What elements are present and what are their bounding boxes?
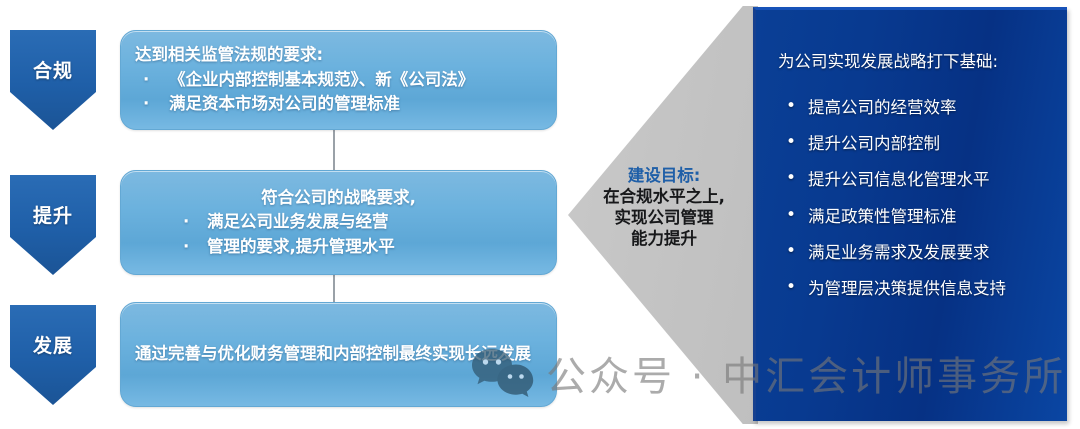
info-box-bullet-item: · 满足公司业务发展与经营 <box>135 210 542 234</box>
info-box-bullet-text: 满足公司业务发展与经营 <box>207 212 389 231</box>
info-box-heading: 通过完善与优化财务管理和内部控制最终实现长远发展 <box>135 342 542 366</box>
outcomes-bullet-item: • 满足业务需求及发展要求 <box>782 244 1051 262</box>
bullet-marker: • <box>786 242 796 261</box>
info-box-compliance: 达到相关监管法规的要求: · 《企业内部控制基本规范》、新《公司法》 · 满足资… <box>120 30 557 130</box>
goal-line: 能力提升 <box>586 228 742 249</box>
goal-line: 在合规水平之上, <box>586 186 742 207</box>
stage-arrow-development: 发展 <box>10 305 96 405</box>
outcomes-bullet-text: 提高公司的经营效率 <box>808 98 957 117</box>
info-box-heading: 达到相关监管法规的要求: <box>135 43 542 67</box>
info-box-bullet-list: · 《企业内部控制基本规范》、新《公司法》 · 满足资本市场对公司的管理标准 <box>135 68 542 117</box>
connector-line <box>333 274 335 303</box>
bullet-marker: • <box>786 206 796 225</box>
stage-arrow-compliance: 合规 <box>10 30 96 130</box>
goal-line: 实现公司管理 <box>586 207 742 228</box>
outcomes-panel: 为公司实现发展战略打下基础: • 提高公司的经营效率 • 提升公司内部控制 • … <box>753 7 1067 421</box>
slide-canvas: 合规 提升 发展 达到相关监管法规的要求: · 《企业内部控制基本规范》、新《公… <box>0 0 1080 429</box>
info-box-bullet-item: · 《企业内部控制基本规范》、新《公司法》 <box>135 68 542 92</box>
stage-arrow-label: 发展 <box>33 331 73 358</box>
info-box-bullet-list: · 满足公司业务发展与经营 · 管理的要求,提升管理水平 <box>135 210 542 259</box>
outcomes-bullet-text: 满足业务需求及发展要求 <box>808 243 990 262</box>
outcomes-bullet-item: • 提升公司内部控制 <box>782 135 1051 153</box>
outcomes-bullet-text: 满足政策性管理标准 <box>808 207 957 226</box>
outcomes-bullet-item: • 提高公司的经营效率 <box>782 99 1051 117</box>
outcomes-bullet-text: 提升公司信息化管理水平 <box>808 170 990 189</box>
outcomes-bullet-item: • 提升公司信息化管理水平 <box>782 171 1051 189</box>
bullet-marker: • <box>786 97 796 116</box>
goal-text-block: 建设目标: 在合规水平之上, 实现公司管理 能力提升 <box>586 165 742 249</box>
info-box-development: 通过完善与优化财务管理和内部控制最终实现长远发展 <box>120 302 557 407</box>
bullet-marker: • <box>786 278 796 297</box>
stage-arrow-label: 提升 <box>33 201 73 228</box>
bullet-marker: • <box>786 169 796 188</box>
info-box-improvement: 符合公司的战略要求, · 满足公司业务发展与经营 · 管理的要求,提升管理水平 <box>120 170 557 275</box>
info-box-bullet-item: · 满足资本市场对公司的管理标准 <box>135 92 542 116</box>
outcomes-bullet-item: • 为管理层决策提供信息支持 <box>782 280 1051 298</box>
bullet-marker: · <box>143 92 149 116</box>
outcomes-bullet-list: • 提高公司的经营效率 • 提升公司内部控制 • 提升公司信息化管理水平 • 满… <box>778 99 1051 298</box>
outcomes-bullet-item: • 满足政策性管理标准 <box>782 208 1051 226</box>
info-box-bullet-text: 满足资本市场对公司的管理标准 <box>169 94 400 113</box>
goal-title: 建设目标: <box>586 165 742 186</box>
bullet-marker: · <box>183 235 189 259</box>
info-box-bullet-item: · 管理的要求,提升管理水平 <box>135 235 542 259</box>
stage-arrow-label: 合规 <box>33 56 73 83</box>
bullet-marker: · <box>143 68 149 92</box>
bullet-marker: · <box>183 210 189 234</box>
outcomes-bullet-text: 为管理层决策提供信息支持 <box>808 279 1006 298</box>
outcomes-bullet-text: 提升公司内部控制 <box>808 134 940 153</box>
info-box-bullet-text: 管理的要求,提升管理水平 <box>207 237 395 256</box>
bullet-marker: • <box>786 133 796 152</box>
info-box-heading: 符合公司的战略要求, <box>135 186 542 210</box>
stage-arrow-improvement: 提升 <box>10 175 96 275</box>
info-box-bullet-text: 《企业内部控制基本规范》、新《公司法》 <box>169 70 474 89</box>
outcomes-panel-heading: 为公司实现发展战略打下基础: <box>778 50 1051 73</box>
connector-line <box>333 129 335 171</box>
